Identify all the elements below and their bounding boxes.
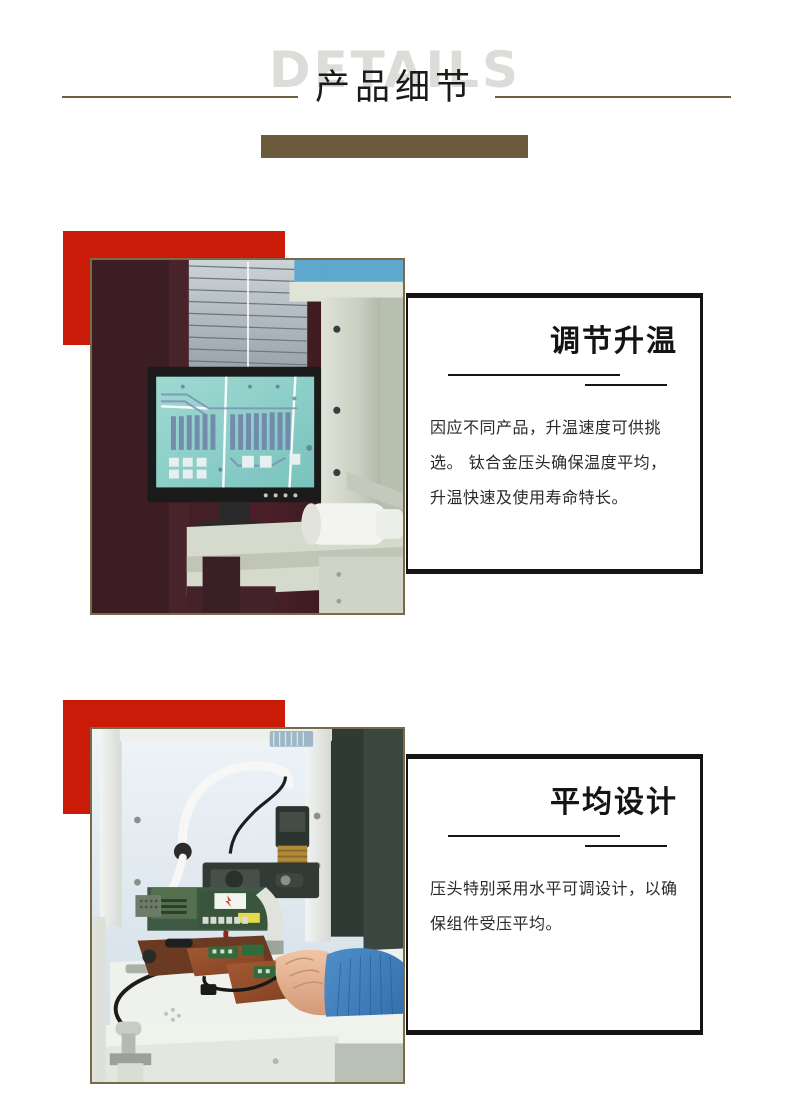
detail-text-box: 调节升温 因应不同产品，升温速度可供挑选。 钛合金压头确保温度平均，升温快速及使… [406,293,703,574]
page-header: DETAILS 产品细节 [0,0,790,200]
heading-underline-long [448,835,620,837]
detail-card: 调节升温 因应不同产品，升温速度可供挑选。 钛合金压头确保温度平均，升温快速及使… [0,231,790,621]
heading-underline-group [426,370,678,396]
photo-bonder-illustration [92,729,403,1082]
photo-monitor-illustration [92,260,403,613]
heading-underline-short [585,384,667,386]
detail-body-text: 压头特别采用水平可调设计，以确保组件受压平均。 [426,871,678,941]
heading-underline-group [426,831,678,857]
header-title-stack: DETAILS 产品细节 [0,44,790,116]
product-photo [90,727,405,1084]
heading-underline-short [585,845,667,847]
page-title: 产品细节 [0,66,790,110]
heading-underline-long [448,374,620,376]
header-accent-bar [261,135,528,158]
detail-text-box: 平均设计 压头特别采用水平可调设计，以确保组件受压平均。 [406,754,703,1035]
product-photo [90,258,405,615]
detail-card: 平均设计 压头特别采用水平可调设计，以确保组件受压平均。 [0,700,790,1080]
detail-heading: 调节升温 [426,322,678,362]
detail-body-text: 因应不同产品，升温速度可供挑选。 钛合金压头确保温度平均，升温快速及使用寿命特长… [426,410,678,515]
detail-heading: 平均设计 [426,783,678,823]
